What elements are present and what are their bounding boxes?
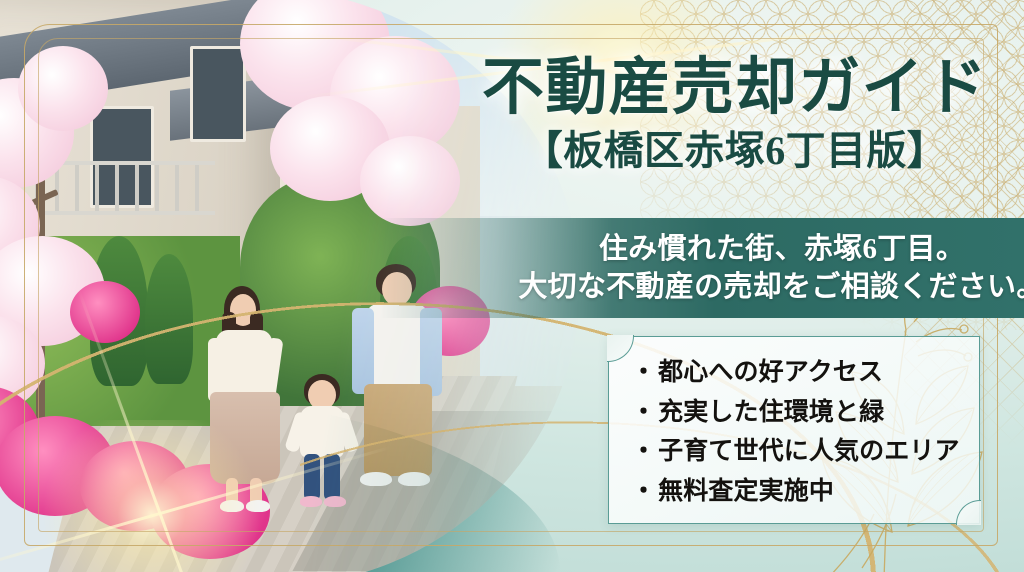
title-block: 不動産売却ガイド 【板橋区赤塚6丁目版】: [470, 56, 1000, 173]
feature-list: ・都心への好アクセス ・充実した住環境と緑 ・子育て世代に人気のエリア ・無料査…: [631, 353, 965, 511]
list-item-label: 都心への好アクセス: [658, 359, 883, 386]
list-item-label: 子育て世代に人気のエリア: [658, 438, 960, 465]
banner-line-1: 住み慣れた街、赤塚6丁目。: [439, 230, 965, 268]
list-item: ・無料査定実施中: [631, 472, 965, 512]
poster-canvas: 不動産売却ガイド 【板橋区赤塚6丁目版】 住み慣れた街、赤塚6丁目。 大切な不動…: [0, 0, 1024, 572]
list-item-label: 無料査定実施中: [658, 478, 834, 505]
feature-card: ・都心への好アクセス ・充実した住環境と緑 ・子育て世代に人気のエリア ・無料査…: [608, 336, 980, 524]
page-title: 不動産売却ガイド: [470, 56, 1000, 121]
list-item: ・充実した住環境と緑: [631, 393, 965, 433]
bullet-marker-icon: ・: [631, 399, 656, 426]
bullet-marker-icon: ・: [631, 438, 656, 465]
list-item: ・都心への好アクセス: [631, 353, 965, 393]
green-message-banner: 住み慣れた街、赤塚6丁目。 大切な不動産の売却をご相談ください。: [380, 218, 1024, 318]
bullet-marker-icon: ・: [631, 359, 656, 386]
list-item: ・子育て世代に人気のエリア: [631, 432, 965, 472]
list-item-label: 充実した住環境と緑: [658, 399, 884, 426]
banner-line-2: 大切な不動産の売却をご相談ください。: [358, 268, 1024, 306]
bullet-marker-icon: ・: [631, 478, 656, 505]
page-subtitle: 【板橋区赤塚6丁目版】: [470, 129, 1000, 173]
